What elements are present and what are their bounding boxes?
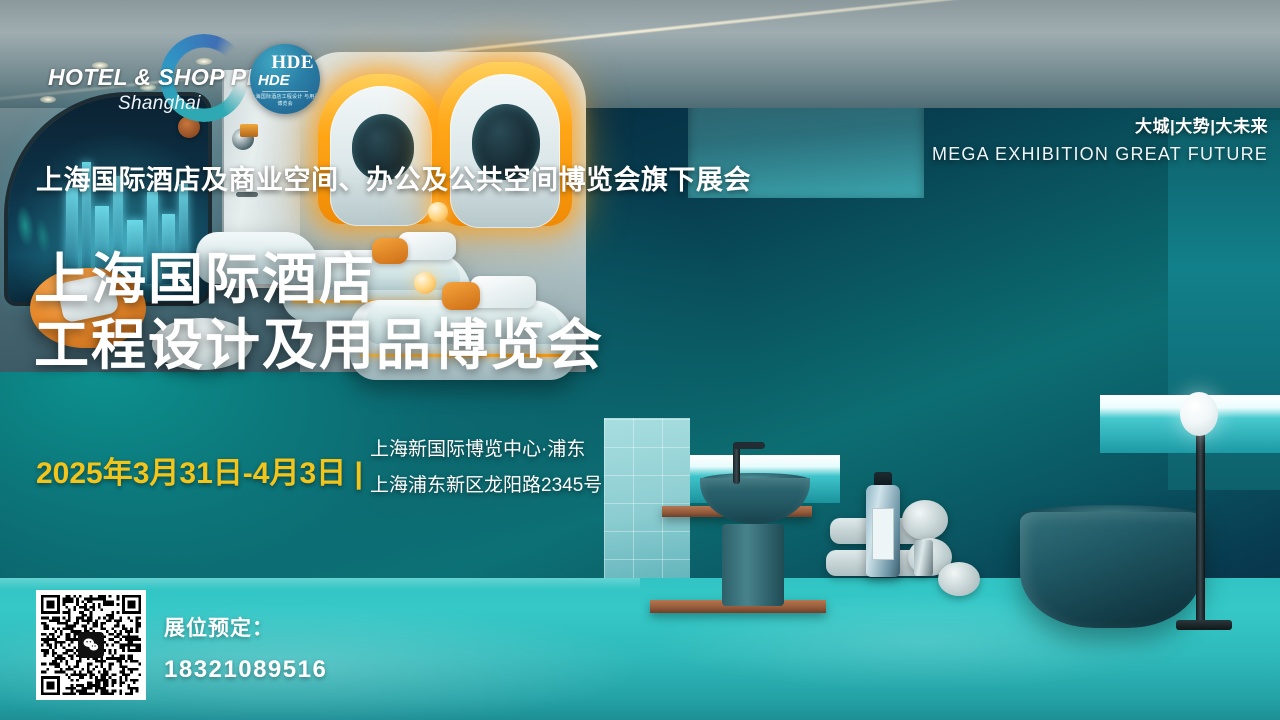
hde-chinese-line-1: 上海国际酒店工程设计	[250, 94, 302, 100]
venue-line-2: 上海浦东新区龙阳路2345号	[370, 468, 602, 504]
wall-sign	[240, 124, 258, 137]
booth-booking-phone[interactable]: 18321089516	[164, 656, 327, 684]
page-title: 上海国际酒店 工程设计及用品博览会	[34, 246, 604, 378]
rolled-towel	[938, 562, 980, 596]
page-title-line-1: 上海国际酒店	[34, 246, 604, 312]
tagline-english: MEGA EXHIBITION GREAT FUTURE	[932, 144, 1268, 165]
hde-sans-mark: HDE	[258, 72, 290, 89]
hde-badge-chinese: 上海国际酒店工程设计 与用品博览会	[250, 89, 320, 108]
freestanding-bathtub	[1020, 512, 1202, 628]
event-venue: 上海新国际博览中心·浦东 上海浦东新区龙阳路2345号	[370, 432, 602, 504]
divider	[262, 91, 308, 92]
floor-edge-highlight	[0, 578, 640, 590]
logo-sub-text: Shanghai	[118, 93, 201, 115]
header-subtitle: 上海国际酒店及商业空间、办公及公共空间博览会旗下展会	[36, 158, 751, 197]
faucet-spout	[733, 442, 765, 449]
hde-serif-mark: HDE	[250, 52, 314, 74]
sphere-lamp	[428, 202, 448, 222]
floor-lamp-globe	[1180, 392, 1218, 436]
tagline-chinese: 大城|大势|大未来	[932, 112, 1268, 137]
booth-booking-label: 展位预定：	[164, 612, 327, 642]
wechat-icon	[78, 632, 104, 658]
tagline: 大城|大势|大未来 MEGA EXHIBITION GREAT FUTURE	[932, 112, 1268, 165]
tiled-wall-panel	[604, 418, 690, 588]
booth-booking-contact: 展位预定： 18321089516	[164, 612, 327, 684]
venue-line-1: 上海新国际博览中心·浦东	[370, 432, 602, 468]
qr-code-image	[41, 595, 141, 695]
hde-badge[interactable]: HDE HDE 上海国际酒店工程设计 与用品博览会	[250, 44, 320, 114]
rolled-towel	[902, 500, 948, 540]
vessel-sink-bowl	[700, 478, 810, 524]
event-date: 2025年3月31日-4月3日 |	[36, 448, 363, 492]
amenity-jar	[914, 540, 933, 576]
floor-lamp-base	[1176, 620, 1232, 630]
wechat-qr-code-icon[interactable]	[36, 590, 146, 700]
page-title-line-2: 工程设计及用品博览会	[34, 312, 604, 378]
sink-pedestal	[722, 524, 784, 606]
amenity-bottle-label	[872, 508, 894, 560]
promotional-banner: HOTEL & SHOP PLUS Shanghai HDE HDE 上海国际酒…	[0, 0, 1280, 720]
